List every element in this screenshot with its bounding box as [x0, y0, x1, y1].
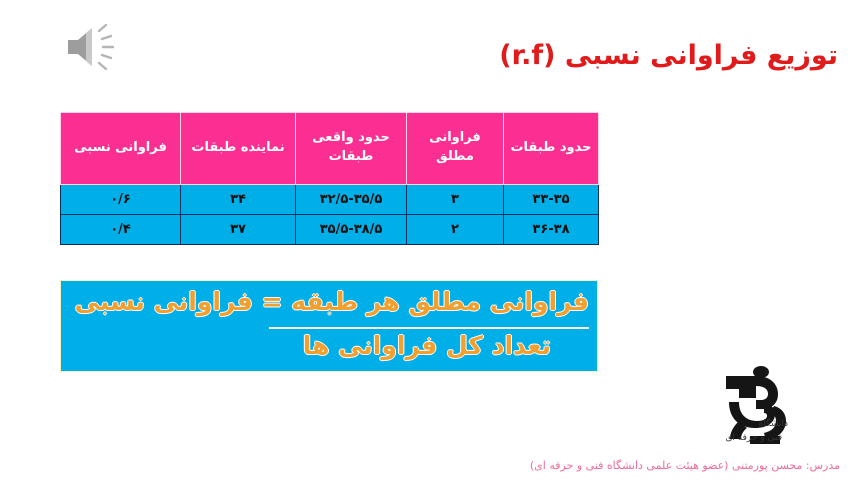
- formula-denominator-line: تعداد کل فراوانی ها: [303, 331, 551, 360]
- column-header-class-limits: حدود طبقات: [504, 113, 599, 185]
- cell-absolute-frequency: ۳: [407, 185, 504, 215]
- relative-frequency-table: حدود طبقات فراوانی مطلق حدود واقعی طبقات…: [60, 112, 599, 245]
- fraction-bar: [269, 327, 589, 329]
- cell-class-midpoint: ۳۷: [181, 215, 296, 245]
- svg-text:دانشگاه: دانشگاه: [759, 417, 788, 429]
- cell-relative-frequency: ۰/۶: [61, 185, 181, 215]
- instructor-credit: مدرس: محسن پورمتنی (عضو هیئت علمی دانشگا…: [530, 459, 840, 472]
- cell-class-limits: ۳۳-۳۵: [504, 185, 599, 215]
- page-title: توزیع فراوانی نسبی (r.f): [499, 40, 838, 71]
- table-header-row: حدود طبقات فراوانی مطلق حدود واقعی طبقات…: [61, 113, 599, 185]
- cell-class-limits: ۳۶-۳۸: [504, 215, 599, 245]
- svg-text:فنی و حرفه ای: فنی و حرفه ای: [725, 433, 782, 443]
- formula-numerator-line: فراوانی مطلق هر طبقه = فراوانی نسبی: [75, 287, 589, 316]
- cell-real-limits: ۳۲/۵-۳۵/۵: [296, 185, 407, 215]
- column-header-real-limits: حدود واقعی طبقات: [296, 113, 407, 185]
- column-header-relative-frequency: فراوانی نسبی: [61, 113, 181, 185]
- cell-absolute-frequency: ۲: [407, 215, 504, 245]
- speaker-icon[interactable]: [62, 18, 126, 76]
- cell-real-limits: ۳۵/۵-۳۸/۵: [296, 215, 407, 245]
- formula-box: فراوانی مطلق هر طبقه = فراوانی نسبی تعدا…: [60, 280, 598, 372]
- cell-relative-frequency: ۰/۴: [61, 215, 181, 245]
- university-logo: دانشگاه فنی و حرفه ای: [704, 362, 838, 454]
- cell-class-midpoint: ۳۴: [181, 185, 296, 215]
- column-header-class-midpoint: نماینده طبقات: [181, 113, 296, 185]
- column-header-absolute-frequency: فراوانی مطلق: [407, 113, 504, 185]
- slide-canvas: توزیع فراوانی نسبی (r.f) حدود طبقات فراو…: [0, 0, 852, 480]
- table-row: ۳۶-۳۸ ۲ ۳۵/۵-۳۸/۵ ۳۷ ۰/۴: [61, 215, 599, 245]
- table-row: ۳۳-۳۵ ۳ ۳۲/۵-۳۵/۵ ۳۴ ۰/۶: [61, 185, 599, 215]
